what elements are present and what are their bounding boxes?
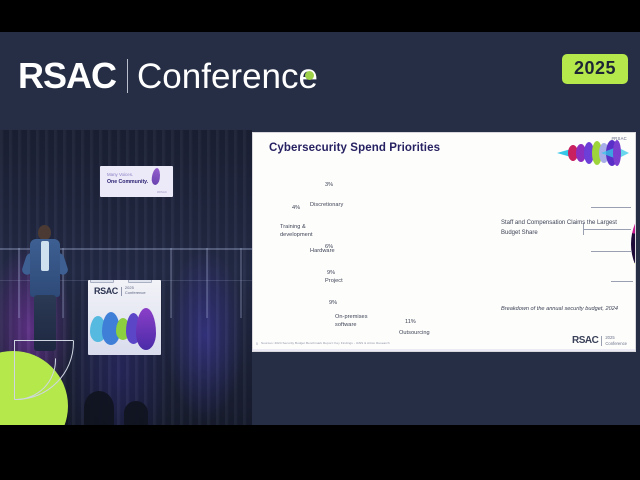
value-project: 9% <box>327 270 335 276</box>
value-onprem: 9% <box>329 300 337 306</box>
label-hardware: Hardware <box>310 247 335 255</box>
slide-rsac-logo: RSAC 2025 Conference <box>572 335 627 346</box>
rsac-wave-graphic-icon <box>557 139 629 167</box>
leaf-purple-icon <box>136 308 156 350</box>
speaker-head <box>38 225 51 240</box>
slide-bottom-rule <box>253 349 635 351</box>
laptop-right-icon <box>128 280 152 283</box>
podium-logo-sub: Conference <box>125 291 146 296</box>
logo-rsac-text: RSAC <box>18 58 116 94</box>
audience-silhouette <box>124 401 148 425</box>
value-outsourcing: 11% <box>405 319 416 325</box>
railing-post <box>206 248 208 318</box>
label-project: Project <box>325 277 343 285</box>
label-outsourcing: Outsourcing <box>399 329 430 337</box>
screen-line-2: One Community. <box>107 179 148 185</box>
logo-divider <box>127 59 128 93</box>
screen-hashtag: #RSAC <box>157 190 167 194</box>
slide-callout: Staff and Compensation Claims the Larges… <box>501 219 629 238</box>
slide-page-number: 5 <box>256 342 258 346</box>
slide-logo-rsac: RSAC <box>572 335 598 346</box>
presentation-slide: Cybersecurity Spend Priorities #RSAC <box>252 132 636 352</box>
podium-logo: RSAC 2025 Conference <box>94 286 146 296</box>
leader-line-hardware <box>591 251 631 252</box>
speaker-shirt <box>41 241 49 271</box>
label-onprem: On-premises software <box>335 313 368 330</box>
label-training: Training & development <box>280 223 313 240</box>
value-discretionary: 3% <box>325 182 333 188</box>
slide-logo-sub: Conference <box>605 341 627 346</box>
rsac-conference-logo: RSAC Conference <box>18 58 318 94</box>
video-frame-root: Many Voices. One Community. #RSAC RSAC <box>0 0 640 480</box>
year-badge: 2025 <box>562 54 628 84</box>
podium-logo-rsac: RSAC <box>94 286 118 296</box>
podium-logo-divider <box>121 287 122 296</box>
slide-footnote: Breakdown of the annual security budget,… <box>501 305 631 314</box>
stage-projection-screen: Many Voices. One Community. #RSAC <box>100 166 173 197</box>
leader-line-discretionary <box>591 207 631 208</box>
railing-post <box>170 248 172 318</box>
leader-line-project <box>611 281 633 282</box>
leaf-graphic-icon <box>151 168 161 186</box>
corner-decoration <box>0 330 120 425</box>
logo-conference-text: Conference <box>137 59 318 94</box>
slide-source-note: Sources: 2024 Security Budget Benchmark … <box>261 341 390 345</box>
slide-logo-divider <box>601 336 602 346</box>
railing-post <box>18 248 20 318</box>
value-training: 4% <box>292 205 300 211</box>
laptop-left-icon <box>90 280 114 283</box>
railing-post <box>240 248 242 318</box>
slide-title: Cybersecurity Spend Priorities <box>269 142 440 154</box>
logo-green-dot-icon <box>305 71 314 80</box>
label-discretionary: Discretionary <box>310 201 343 209</box>
screen-line-1: Many Voices. <box>107 172 133 177</box>
conference-video-frame: Many Voices. One Community. #RSAC RSAC <box>0 32 640 425</box>
